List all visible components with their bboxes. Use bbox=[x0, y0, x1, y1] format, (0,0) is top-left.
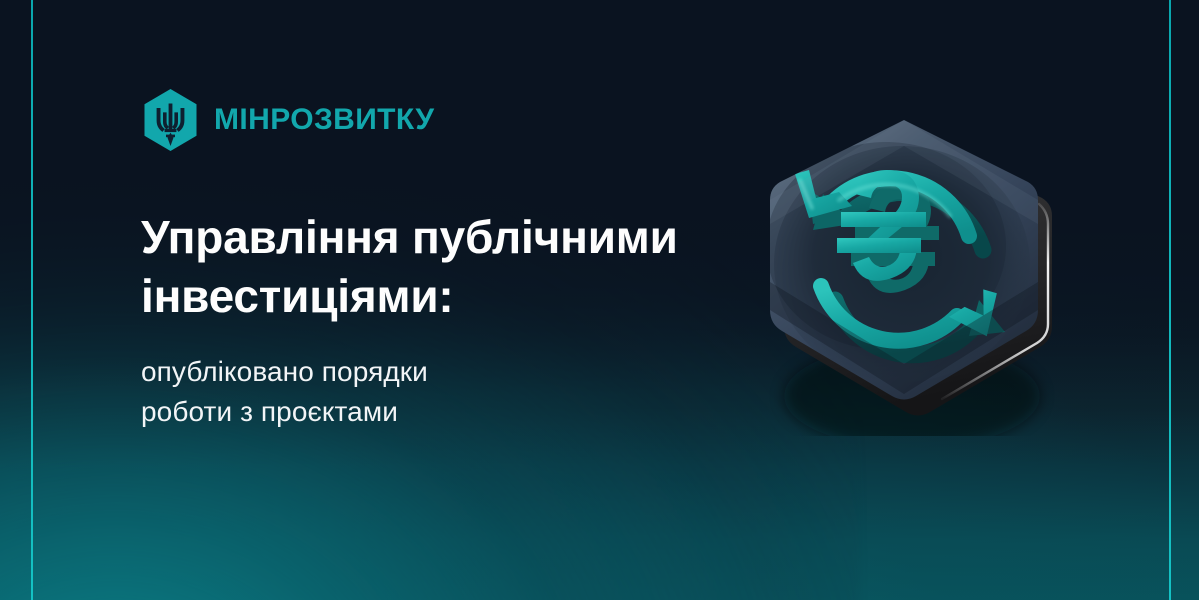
ukraine-trident-hexagon-icon bbox=[142, 88, 199, 152]
accent-rule-right bbox=[1169, 0, 1171, 600]
subheadline-line-1: опубліковано порядки bbox=[141, 352, 661, 392]
promo-banner: МІНРОЗВИТКУ Управління публічними інвест… bbox=[0, 0, 1199, 600]
brand-lockup[interactable]: МІНРОЗВИТКУ bbox=[142, 88, 434, 152]
brand-name: МІНРОЗВИТКУ bbox=[214, 105, 434, 135]
subheadline-line-2: роботи з проєктами bbox=[141, 392, 661, 432]
hryvnia-refresh-hexagon-icon bbox=[736, 96, 1076, 436]
headline: Управління публічними інвестиціями: bbox=[141, 208, 781, 326]
accent-rule-left bbox=[31, 0, 33, 600]
subheadline: опубліковано порядки роботи з проєктами bbox=[141, 352, 661, 432]
